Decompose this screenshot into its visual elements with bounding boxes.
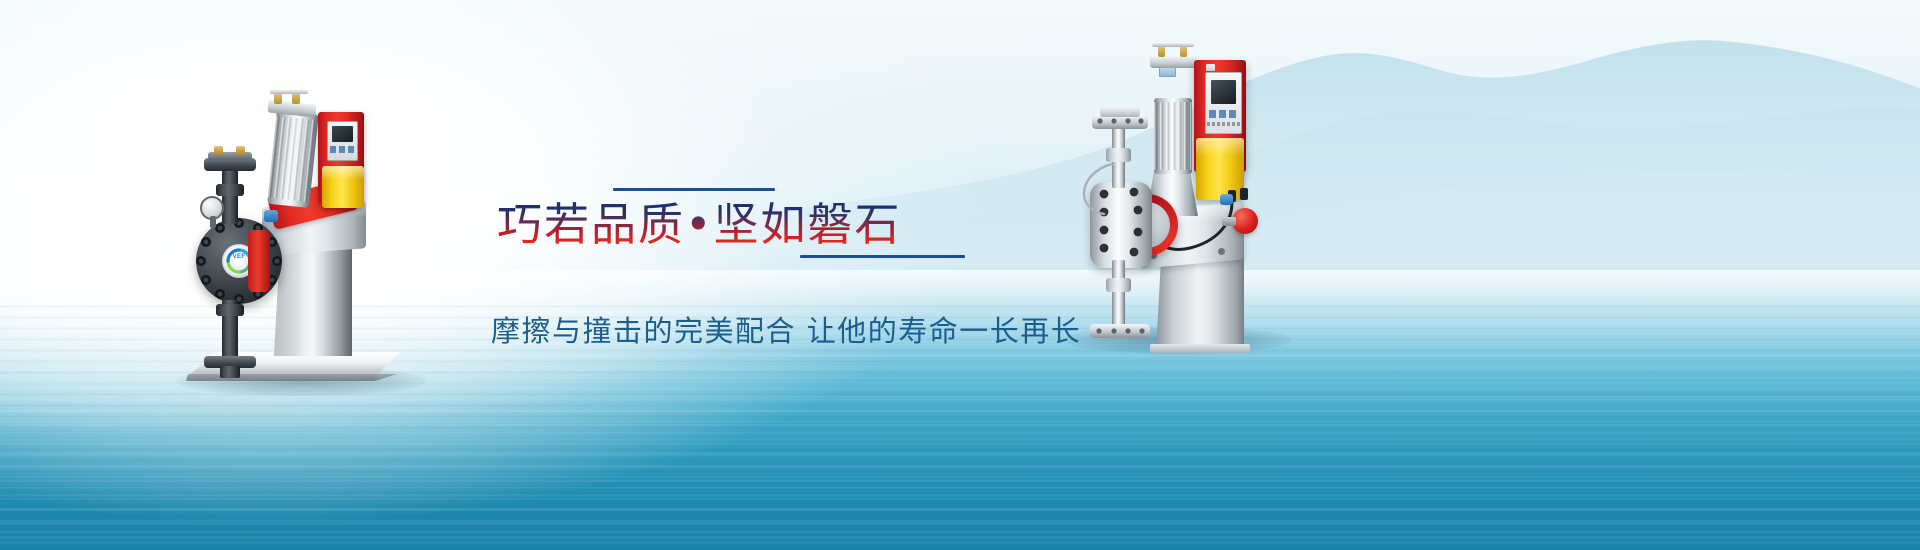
right-pump-controller-label	[1207, 122, 1240, 126]
left-pump-valve-collar-lower	[216, 304, 244, 316]
right-pump-stand	[1156, 254, 1244, 352]
right-pump-terminal-bar	[1152, 43, 1194, 47]
left-pump-terminal-bar	[270, 90, 308, 94]
right-pump-keypad-gloss	[1196, 138, 1244, 156]
left-pump-valve-collar-upper	[216, 184, 244, 196]
right-pump-motor	[1154, 98, 1192, 174]
right-pump-bracket-wire	[1078, 160, 1114, 218]
right-pump-controller-keys	[1209, 110, 1238, 118]
left-pump-brass-fitting-b	[236, 146, 245, 155]
right-pump-top-flange-bolts	[1092, 114, 1148, 129]
left-pump-base-plate-edge	[186, 374, 400, 381]
hero-banner: VEF	[0, 0, 1920, 550]
left-pump-gauge-stem	[210, 216, 216, 228]
page-title: 巧若品质•坚如磐石	[497, 201, 1017, 249]
right-pump-discharge-pipe	[1112, 260, 1125, 328]
left-pump-controller-keys	[330, 146, 355, 153]
product-image-right-pump	[1068, 42, 1268, 347]
right-pump-cable-gland-b	[1240, 188, 1248, 200]
left-pump-red-collar	[248, 230, 270, 292]
left-pump-controller-display	[332, 126, 353, 142]
left-pump-brass-fitting-a	[214, 146, 223, 155]
right-pump-stand-foot	[1150, 344, 1250, 353]
right-pump-discharge-collar	[1106, 278, 1131, 292]
decor-rule-bottom	[800, 255, 965, 258]
right-pump-controller-badge	[1206, 64, 1215, 71]
right-pump-terminal-right	[1180, 46, 1187, 57]
right-pump-relief-stem	[1222, 217, 1236, 226]
page-subtitle: 摩擦与撞击的完美配合 让他的寿命一长再长	[491, 308, 1081, 350]
left-pump-motor-fins	[268, 116, 318, 202]
decor-rule-top	[613, 188, 775, 191]
product-image-left-pump: VEF	[186, 88, 402, 388]
left-pump-pedestal-shade	[274, 244, 352, 356]
right-pump-motor-fins	[1154, 102, 1192, 170]
left-pump-keypad-gloss	[322, 166, 364, 180]
right-pump-blue-fitting-right	[1220, 194, 1233, 205]
left-pump-foot-stub	[220, 366, 240, 378]
left-pump-upper-pipe	[222, 170, 238, 224]
right-pump-terminal-left	[1158, 46, 1165, 57]
headline-block: 巧若品质•坚如磐石	[497, 188, 1017, 258]
right-pump-bottom-flange-bolts	[1090, 324, 1150, 338]
right-pump-controller-display	[1211, 80, 1236, 104]
right-pump-motor-cap	[1150, 56, 1196, 68]
